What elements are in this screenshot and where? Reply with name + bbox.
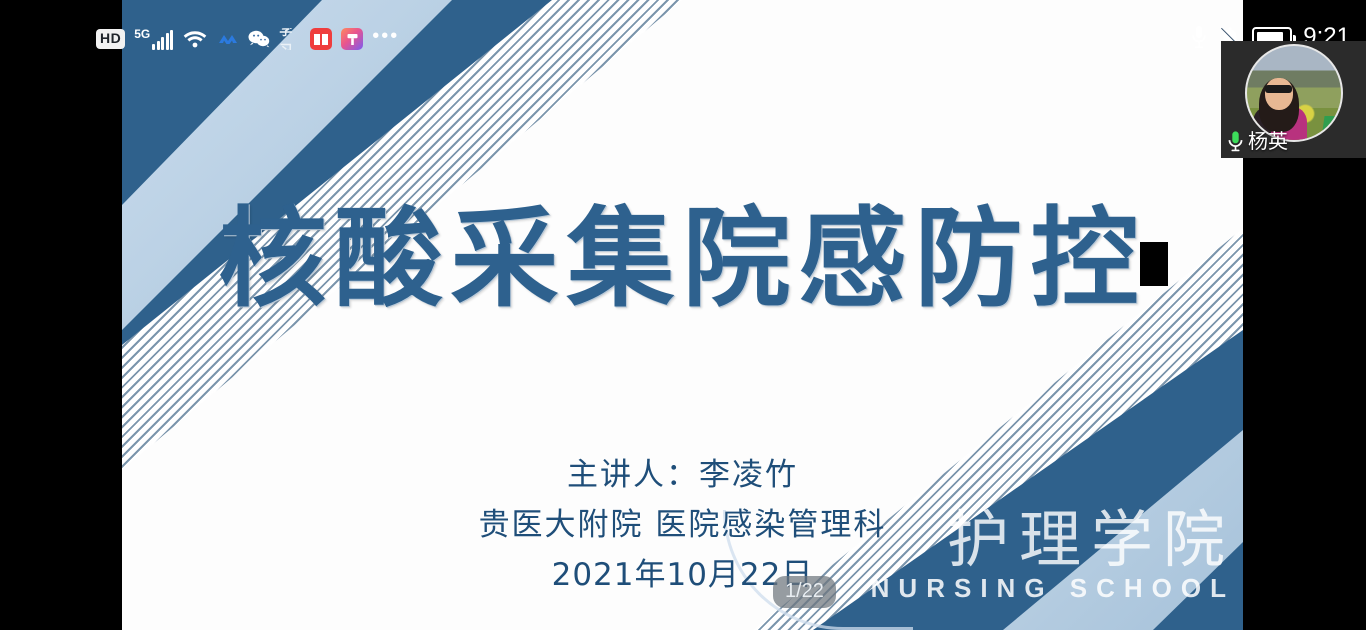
date-line: 2021年10月22日 bbox=[122, 550, 1243, 600]
page-indicator: 1/22 bbox=[773, 576, 836, 608]
presentation-slide[interactable]: 护理学院 NURSING SCHOOL 核酸采集院感防控 主讲人：李凌竹 贵医大… bbox=[122, 0, 1243, 630]
slide-title: 核酸采集院感防控 bbox=[122, 198, 1243, 322]
microphone-active-icon bbox=[1227, 130, 1244, 152]
slide-subtitle-block: 主讲人：李凌竹 贵医大附院 医院感染管理科 2021年10月22日 bbox=[122, 450, 1243, 600]
participant-name-row: 杨英 bbox=[1227, 130, 1288, 152]
participant-name: 杨英 bbox=[1248, 131, 1288, 151]
avatar-person bbox=[1251, 56, 1307, 140]
cursor-artifact bbox=[1140, 242, 1168, 286]
presenter-line: 主讲人：李凌竹 bbox=[122, 450, 1243, 500]
participant-video-tile[interactable]: 杨英 bbox=[1221, 41, 1366, 158]
affiliation-line: 贵医大附院 医院感染管理科 bbox=[122, 500, 1243, 550]
avatar bbox=[1245, 44, 1343, 142]
screen-root: 护理学院 NURSING SCHOOL 核酸采集院感防控 主讲人：李凌竹 贵医大… bbox=[0, 0, 1366, 630]
hd-badge: HD bbox=[96, 29, 125, 49]
avatar-background-detail bbox=[1321, 116, 1340, 138]
